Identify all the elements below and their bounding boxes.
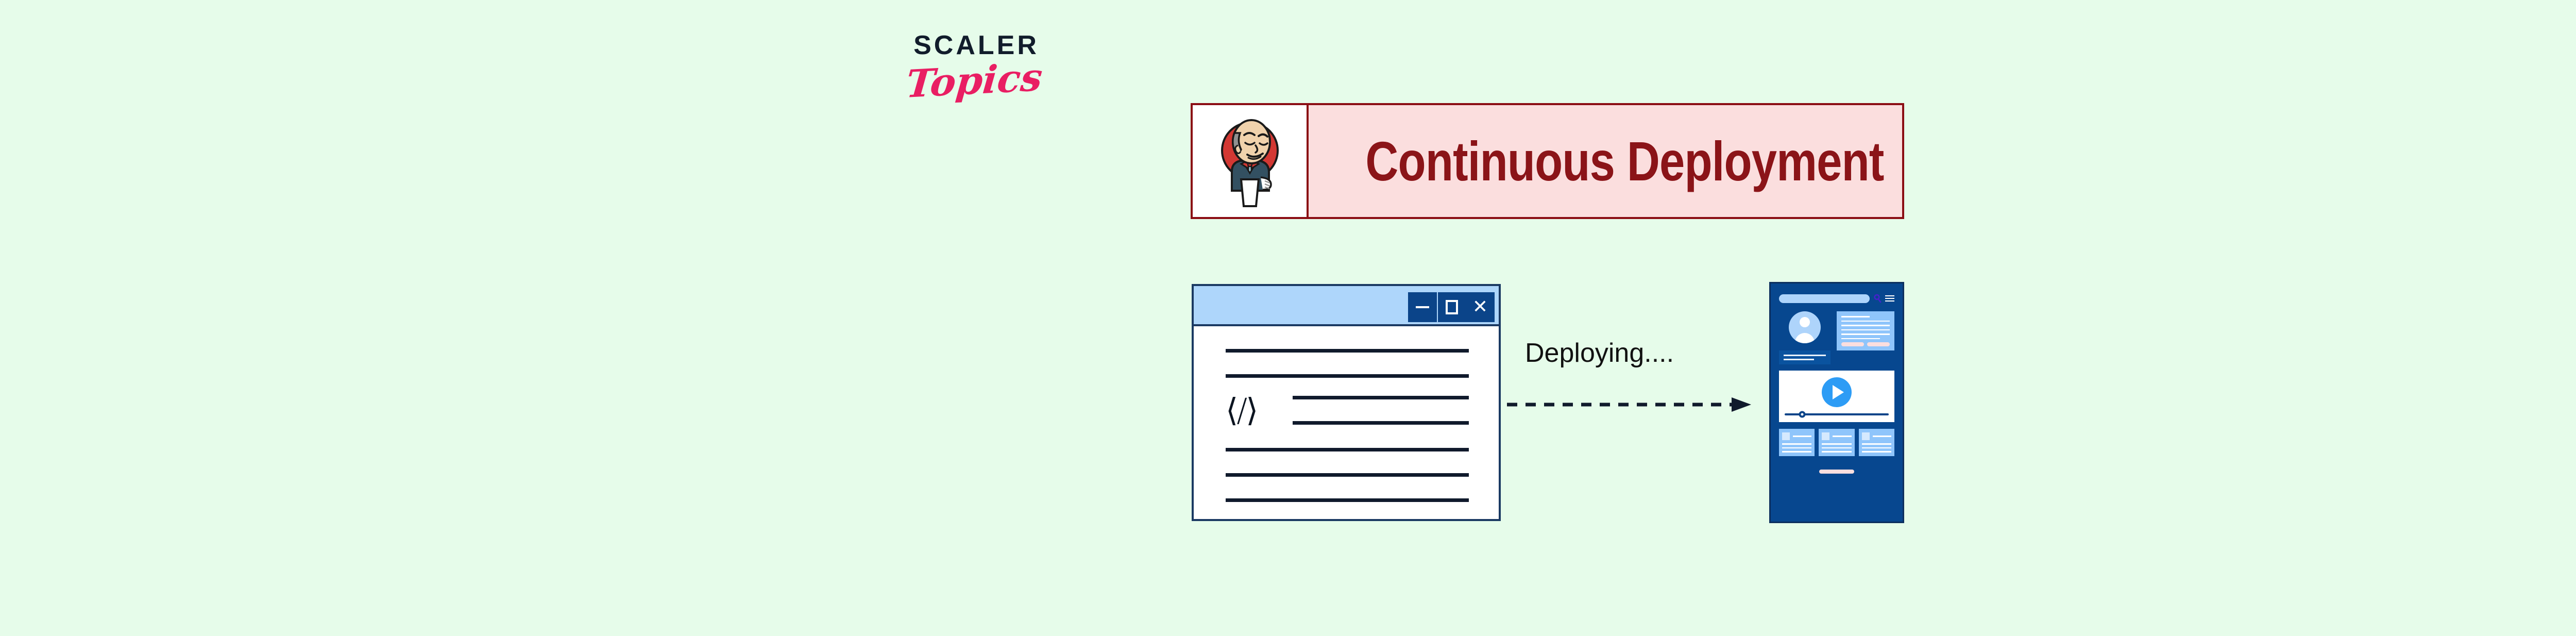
play-button-icon[interactable] — [1822, 377, 1852, 407]
continuous-deployment-banner: Continuous Deployment — [1191, 103, 1904, 219]
minimize-button[interactable] — [1408, 292, 1437, 322]
window-controls: ✕ — [1408, 292, 1495, 322]
content-tile[interactable] — [1819, 429, 1854, 456]
close-button[interactable]: ✕ — [1466, 292, 1495, 322]
tile-thumbnail-icon — [1822, 432, 1829, 440]
user-avatar-icon — [1789, 311, 1821, 343]
search-icon[interactable] — [1873, 294, 1882, 303]
card-action-buttons — [1841, 342, 1890, 346]
device-topbar — [1779, 293, 1894, 304]
play-triangle — [1833, 385, 1844, 399]
hamburger-menu-icon[interactable] — [1885, 295, 1894, 302]
code-line — [1226, 448, 1469, 451]
banner-title: Continuous Deployment — [1365, 105, 1884, 217]
banner-icon-container — [1193, 105, 1309, 217]
device-tile-row — [1779, 429, 1894, 456]
code-line — [1226, 349, 1469, 353]
mobile-device-mockup — [1769, 282, 1904, 523]
content-tile[interactable] — [1859, 429, 1894, 456]
video-progress-bar[interactable] — [1785, 413, 1889, 415]
maximize-icon — [1446, 300, 1458, 314]
logo-primary-text: SCALER — [894, 32, 1059, 59]
code-editor-window: ✕ ⟨/⟩ — [1192, 284, 1501, 521]
tile-title-line — [1873, 436, 1891, 437]
close-icon: ✕ — [1472, 298, 1488, 316]
maximize-button[interactable] — [1437, 292, 1466, 322]
profile-text-block — [1779, 350, 1831, 364]
tile-title-line — [1833, 436, 1851, 437]
code-line — [1293, 396, 1469, 399]
code-line — [1226, 374, 1469, 378]
tile-header — [1822, 432, 1851, 440]
search-input[interactable] — [1779, 294, 1870, 303]
device-content-card — [1837, 311, 1894, 350]
avatar-head — [1800, 317, 1810, 327]
jenkins-butler-icon — [1211, 113, 1289, 209]
minimize-icon — [1416, 306, 1429, 308]
code-editor-body: ⟨/⟩ — [1194, 326, 1499, 521]
code-block-with-icon: ⟨/⟩ — [1226, 394, 1469, 426]
avatar-body — [1795, 333, 1815, 343]
illustration-canvas: SCALER Topics — [0, 0, 2576, 636]
device-profile-row — [1779, 311, 1894, 364]
deploying-label: Deploying.... — [1525, 338, 1674, 369]
home-indicator — [1819, 470, 1854, 474]
code-mid-lines — [1293, 396, 1469, 425]
card-button[interactable] — [1841, 342, 1864, 346]
progress-knob[interactable] — [1799, 411, 1806, 418]
video-player — [1779, 371, 1894, 422]
tile-title-line — [1793, 436, 1811, 437]
card-button[interactable] — [1867, 342, 1890, 346]
window-titlebar: ✕ — [1194, 286, 1499, 326]
scaler-topics-logo: SCALER Topics — [894, 32, 1059, 125]
code-line — [1226, 498, 1469, 502]
tile-header — [1782, 432, 1811, 440]
code-line — [1226, 473, 1469, 477]
code-line — [1293, 421, 1469, 425]
device-profile-column — [1779, 311, 1831, 364]
logo-secondary-text: Topics — [888, 57, 1061, 104]
tile-thumbnail-icon — [1862, 432, 1870, 440]
tile-thumbnail-icon — [1782, 432, 1790, 440]
dashed-arrow-right — [1507, 397, 1754, 412]
content-tile[interactable] — [1779, 429, 1815, 456]
tile-header — [1862, 432, 1891, 440]
code-tags-icon: ⟨/⟩ — [1226, 394, 1293, 426]
